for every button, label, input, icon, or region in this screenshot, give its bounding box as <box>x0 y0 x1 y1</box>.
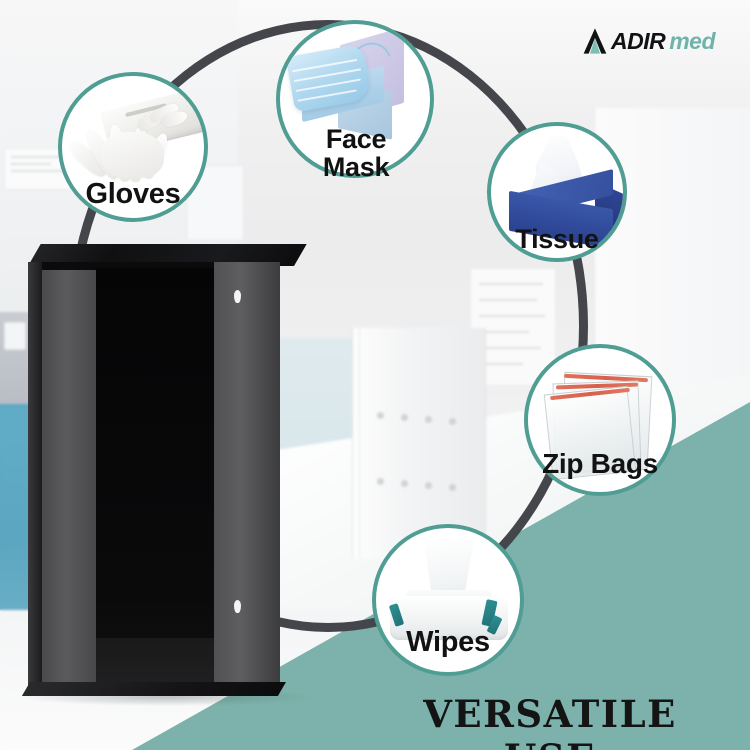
dispenser-front-face <box>96 268 214 690</box>
mounting-keyhole-top <box>234 290 241 303</box>
callout-label-tissue: Tissue <box>487 226 627 254</box>
headline-versatile-use: VERSATILE USE <box>376 692 724 750</box>
dispenser-left-panel <box>42 270 96 690</box>
background-wall-outlet <box>4 322 26 350</box>
logo-text-secondary: med <box>669 30 715 53</box>
callout-label-wipes: Wipes <box>376 628 520 658</box>
logo-text-primary: ADIR <box>611 30 665 53</box>
brand-logo[interactable]: ADIRmed <box>583 18 715 64</box>
adirmed-chevron-logo-icon <box>583 20 607 62</box>
product-dispenser <box>28 244 294 694</box>
product-marketing-image: Gloves Face Mask Tissue <box>0 0 750 750</box>
dispenser-bottom-edge <box>22 682 286 696</box>
dispenser-right-panel <box>214 262 280 690</box>
mounting-keyhole-bottom <box>234 600 241 613</box>
callout-label-gloves: Gloves <box>62 180 204 210</box>
callout-label-zip-bags: Zip Bags <box>514 450 686 479</box>
callout-label-face-mask: Face Mask <box>288 126 424 181</box>
dispenser-left-edge <box>28 262 42 690</box>
